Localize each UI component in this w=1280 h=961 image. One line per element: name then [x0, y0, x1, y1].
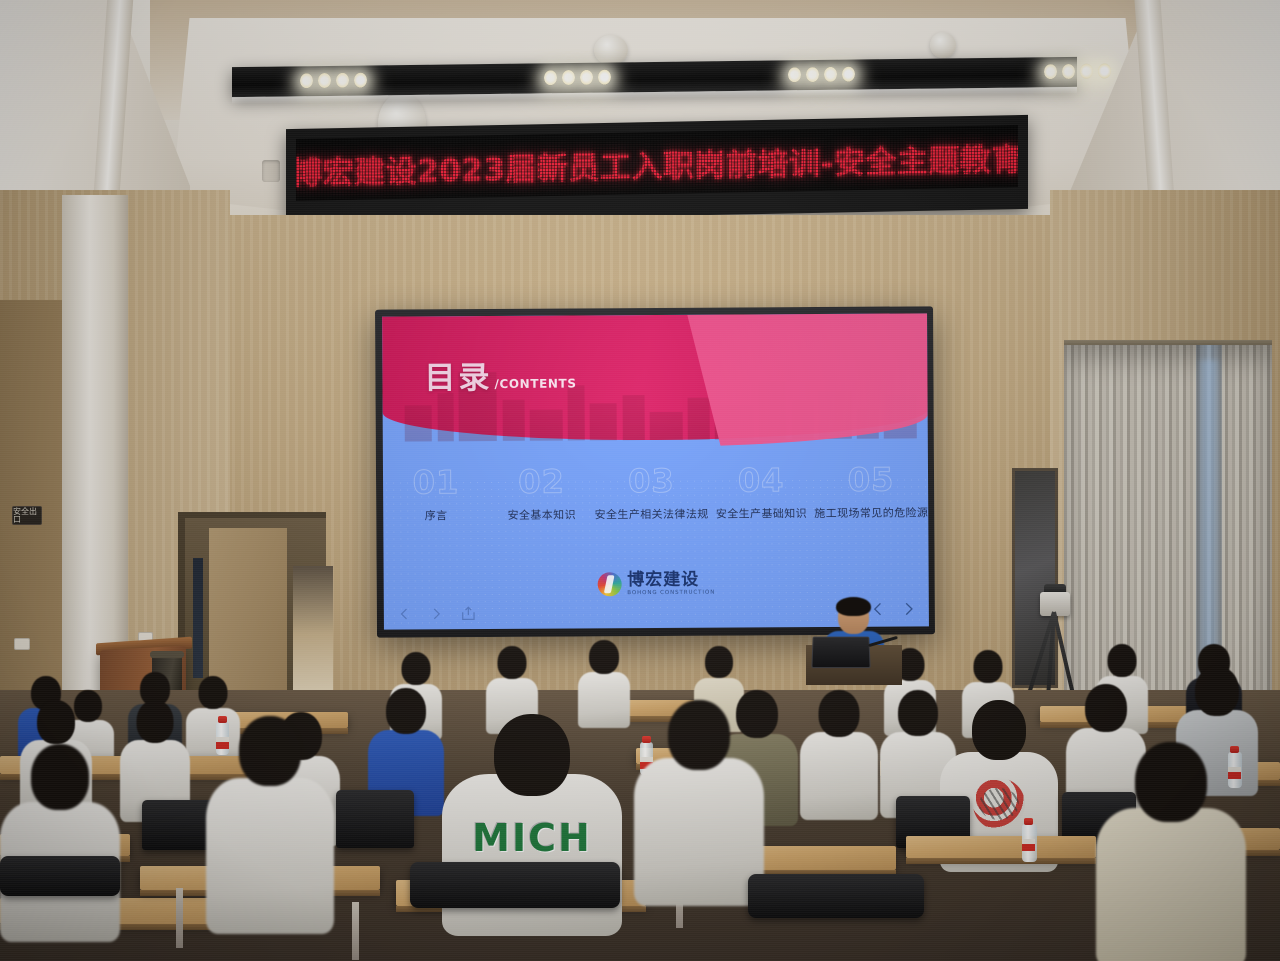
- attendee-head: [1085, 684, 1127, 732]
- attendee-head: [1108, 644, 1137, 677]
- ceiling-speaker-icon: [594, 35, 628, 65]
- logo-name-en: BOHONG CONSTRUCTION: [627, 590, 715, 596]
- ceiling-spotlight: [1098, 63, 1111, 78]
- toc-number: 05: [848, 464, 895, 496]
- slide-title: 目录 /CONTENTS: [424, 351, 576, 397]
- training-room-photo: 博宏建设2023届新员工入职岗前培训-安全主题教育 安全出口: [0, 0, 1280, 961]
- attendee-head: [402, 652, 431, 685]
- ceiling-slot: [262, 160, 280, 182]
- ceiling-spotlight: [300, 73, 313, 88]
- attendee-head: [819, 690, 860, 737]
- toc-label: 施工现场常见的危险源: [814, 504, 928, 521]
- share-icon[interactable]: [460, 604, 477, 623]
- ceiling-speaker-icon: [930, 32, 956, 58]
- attendee: [800, 690, 878, 816]
- ceiling-spotlight: [544, 70, 557, 85]
- attendee-head: [589, 640, 619, 674]
- ceiling-spotlight: [1044, 64, 1057, 79]
- attendee-torso: MICH: [442, 774, 622, 936]
- led-banner-text: 博宏建设2023届新员工入职岗前培训-安全主题教育: [296, 133, 1018, 192]
- attendee-head: [199, 676, 228, 709]
- chevron-right-icon[interactable]: [900, 599, 917, 618]
- toc-item[interactable]: 03 安全生产相关法律法规: [594, 465, 708, 523]
- attendee-head: [668, 700, 730, 770]
- toc-label: 安全基本知识: [508, 506, 577, 522]
- attendee-head: [974, 650, 1003, 683]
- ceiling-spotlight: [318, 73, 331, 88]
- exit-sign-text: 安全出口: [13, 508, 41, 524]
- attendee-head: [705, 646, 733, 678]
- toc-number: 01: [413, 466, 460, 498]
- toc-item[interactable]: 05 施工现场常见的危险源: [814, 463, 928, 521]
- ceiling-spotlight: [598, 70, 611, 85]
- door-gap: [193, 558, 203, 678]
- attendee-head: [498, 646, 527, 679]
- water-bottle[interactable]: [1022, 824, 1037, 862]
- ceiling-spotlight: [788, 67, 801, 82]
- chevron-right-icon[interactable]: [428, 604, 445, 623]
- desk-leg: [176, 888, 183, 948]
- chair[interactable]: [142, 800, 216, 850]
- attendee-head: [386, 688, 426, 734]
- ceiling-spotlight: [354, 73, 367, 88]
- toc-label: 安全生产相关法律法规: [595, 506, 709, 523]
- toc-label: 序言: [425, 507, 448, 523]
- presentation-display[interactable]: 目录 /CONTENTS 01 序言 02 安全基本知识 03 安全生产相关法律…: [375, 306, 935, 637]
- logo-text: 博宏建设 BOHONG CONSTRUCTION: [627, 571, 715, 596]
- ceiling-spotlight: [842, 67, 855, 82]
- toc-item[interactable]: 04 安全生产基础知识: [708, 464, 814, 522]
- ceiling-spotlight: [824, 67, 837, 82]
- slide-contents-list: 01 序言 02 安全基本知识 03 安全生产相关法律法规 04 安全生产基础知…: [383, 463, 929, 556]
- chair[interactable]: [748, 874, 924, 918]
- attendee-torso: [800, 732, 878, 820]
- logo-mark-icon: [597, 572, 621, 596]
- presenter-laptop[interactable]: [811, 637, 870, 669]
- shirt-print-text: MICH: [472, 816, 592, 860]
- shirt-graphic: [973, 778, 1025, 830]
- attendee-head: [1135, 742, 1207, 822]
- attendee: [578, 640, 630, 724]
- exit-sign: 安全出口: [12, 506, 42, 525]
- chair[interactable]: [336, 790, 414, 848]
- ceiling-spotlight: [580, 70, 593, 85]
- toc-label: 安全生产基础知识: [716, 505, 807, 522]
- ceiling-spotlight: [1062, 64, 1075, 79]
- toc-item[interactable]: 01 序言: [383, 466, 489, 524]
- chevron-left-icon[interactable]: [396, 604, 413, 623]
- ceiling-spotlight: [336, 73, 349, 88]
- slide-title-cn: 目录: [424, 352, 492, 397]
- toc-number: 03: [628, 465, 675, 497]
- presenter-hair: [836, 597, 871, 616]
- attendee: [634, 700, 764, 900]
- attendee: [206, 716, 334, 926]
- attendee-head: [898, 690, 938, 736]
- light-switch[interactable]: [14, 638, 30, 650]
- chair[interactable]: [0, 856, 120, 896]
- attendee-torso: [206, 778, 334, 934]
- desk-leg: [352, 902, 359, 960]
- company-logo: 博宏建设 BOHONG CONSTRUCTION: [384, 570, 929, 598]
- logo-name-cn: 博宏建设: [627, 571, 715, 589]
- attendee-head: [1195, 666, 1239, 716]
- ceiling-spotlight: [562, 70, 575, 85]
- attendee: [0, 744, 120, 934]
- attendee-torso: [1096, 808, 1246, 961]
- slide-canvas: 目录 /CONTENTS 01 序言 02 安全基本知识 03 安全生产相关法律…: [382, 313, 929, 629]
- desk: [906, 836, 1096, 858]
- toc-number: 04: [738, 464, 785, 496]
- attendee-head: [31, 744, 89, 810]
- chair[interactable]: [410, 862, 620, 908]
- attendee-torso: [634, 758, 764, 906]
- attendee-head: [494, 714, 570, 796]
- toc-number: 02: [518, 466, 565, 498]
- slide-nav-left: [396, 604, 477, 623]
- toc-item[interactable]: 02 安全基本知识: [489, 465, 595, 523]
- attendee-head: [37, 700, 75, 744]
- ceiling-spotlight: [806, 67, 819, 82]
- attendee-head: [137, 700, 174, 743]
- attendee-head: [239, 716, 301, 786]
- attendee: [1096, 742, 1246, 961]
- attendee-head: [972, 700, 1026, 760]
- slide-title-en: /CONTENTS: [494, 376, 576, 391]
- ceiling-spotlight: [1080, 64, 1093, 79]
